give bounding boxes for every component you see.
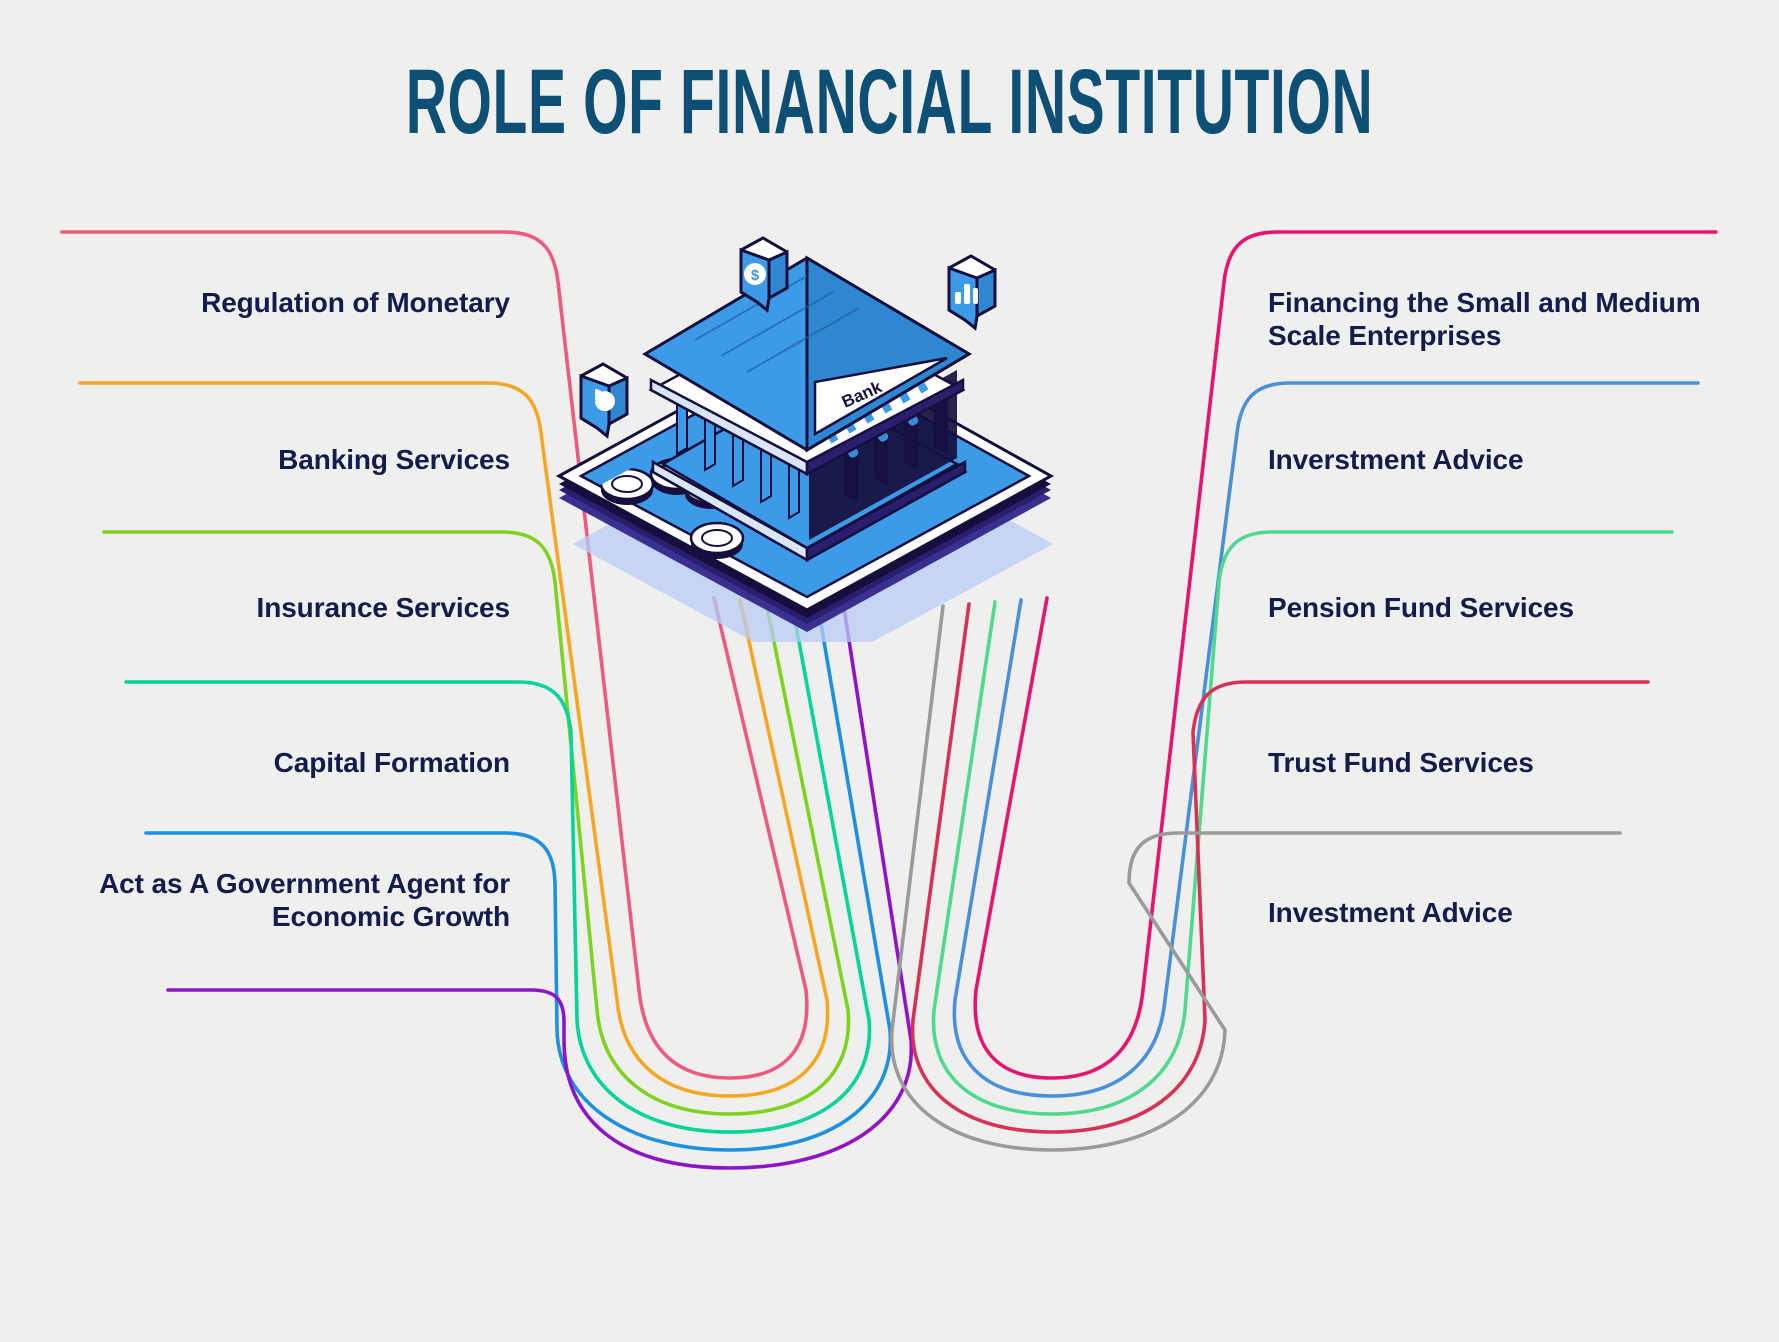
left-label-3: Capital Formation xyxy=(60,747,510,780)
wire-right-4 xyxy=(892,606,1620,1150)
right-label-1: Inverstment Advice xyxy=(1268,444,1728,477)
svg-text:$: $ xyxy=(751,267,760,284)
right-label-4: Investment Advice xyxy=(1268,897,1728,930)
right-label-0: Financing the Small and Medium Scale Ent… xyxy=(1268,287,1728,353)
connector-wires xyxy=(0,0,1779,1342)
bank-illustration: Bank $ xyxy=(545,222,1065,642)
bar-chart-badge xyxy=(949,256,995,328)
coin xyxy=(691,523,743,559)
bank-illustration-svg: Bank $ xyxy=(545,222,1065,642)
right-label-3: Trust Fund Services xyxy=(1268,747,1728,780)
left-label-2: Insurance Services xyxy=(60,592,510,625)
infographic-canvas: ROLE OF FINANCIAL INSTITUTION Regulation… xyxy=(0,0,1779,1342)
wire-right-3 xyxy=(913,604,1648,1132)
wire-right-0 xyxy=(975,232,1716,1078)
page-title: ROLE OF FINANCIAL INSTITUTION xyxy=(338,56,1441,148)
pie-chart-badge xyxy=(581,364,627,436)
right-label-2: Pension Fund Services xyxy=(1268,592,1728,625)
wire-right-1 xyxy=(954,383,1698,1096)
left-label-1: Banking Services xyxy=(60,444,510,477)
left-label-4: Act as A Government Agent for Economic G… xyxy=(60,868,510,934)
left-label-0: Regulation of Monetary xyxy=(60,287,510,320)
